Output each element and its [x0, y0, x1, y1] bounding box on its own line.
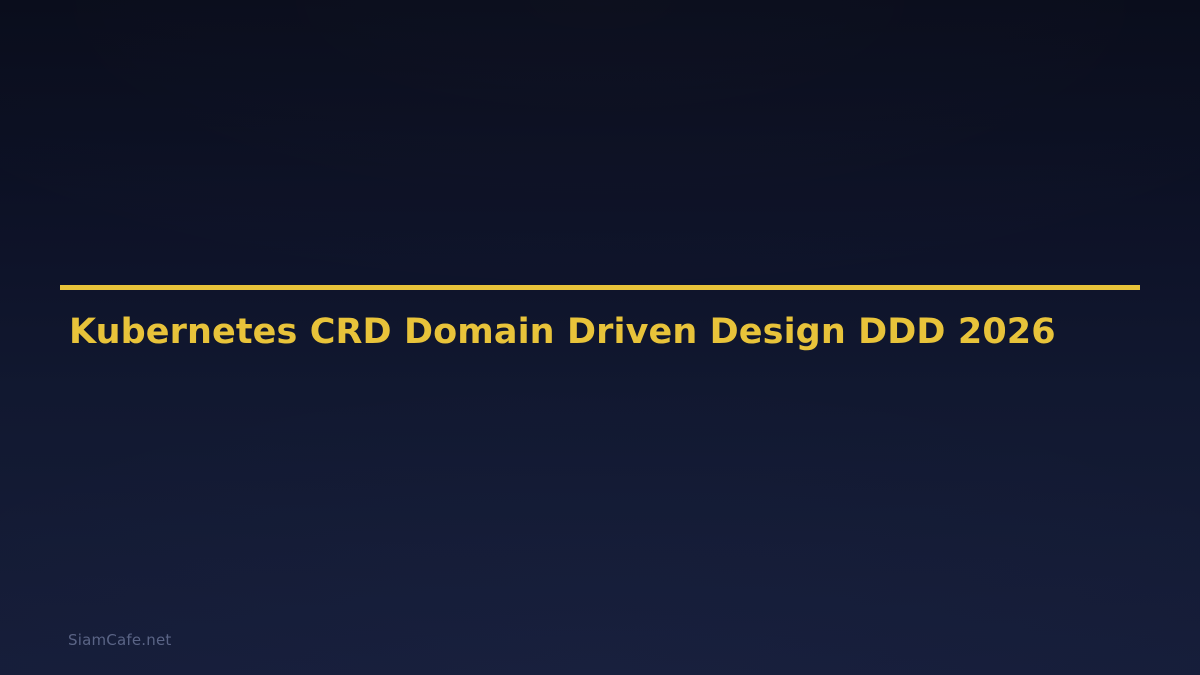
title-block: Kubernetes CRD Domain Driven Design DDD …: [60, 285, 1140, 290]
page-title: Kubernetes CRD Domain Driven Design DDD …: [69, 310, 1056, 354]
footer-branding: SiamCafe.net: [68, 630, 171, 650]
title-slide: Kubernetes CRD Domain Driven Design DDD …: [0, 0, 1200, 675]
accent-rule-divider: [60, 285, 1140, 290]
